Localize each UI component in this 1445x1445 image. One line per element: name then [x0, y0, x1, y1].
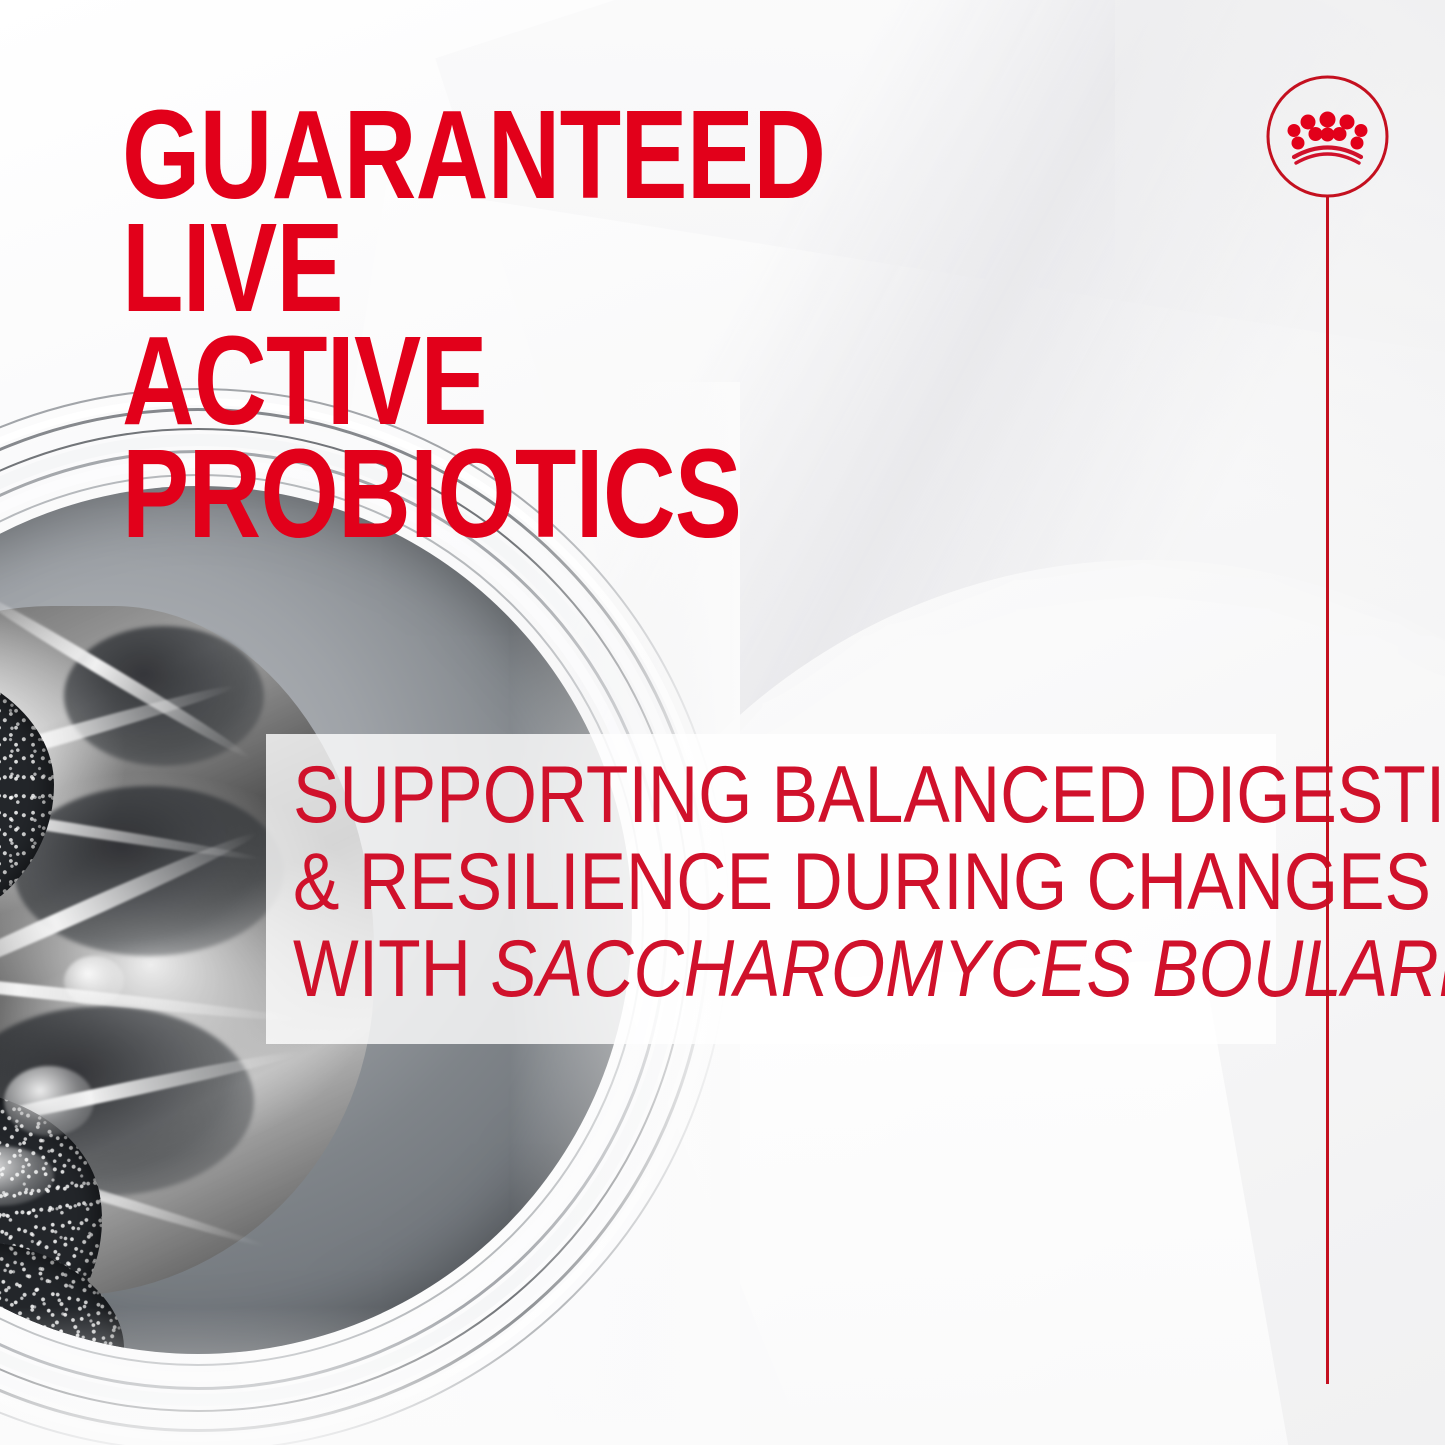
page-title: GUARANTEED LIVE ACTIVE PROBIOTICS	[122, 98, 1002, 550]
caption-line-1: SUPPORTING BALANCED DIGESTION	[293, 752, 1162, 839]
caption-block: SUPPORTING BALANCED DIGESTION & RESILIEN…	[293, 752, 1162, 1013]
royal-canin-logo[interactable]	[1266, 75, 1389, 198]
royal-canin-crown-icon	[1266, 75, 1389, 198]
species-name: SACCHAROMYCES BOULARDII	[490, 924, 1445, 1014]
photo-fade-bottom	[0, 1307, 740, 1445]
food-highlight	[4, 1066, 94, 1136]
logo-stem-line	[1326, 196, 1329, 1384]
food-highlight	[64, 956, 124, 1006]
caption-line-3-prefix: WITH	[293, 924, 490, 1014]
caption-line-3: WITH SACCHAROMYCES BOULARDII	[293, 926, 1162, 1013]
caption-line-2: & RESILIENCE DURING CHANGES	[293, 839, 1162, 926]
product-feature-banner: GUARANTEED LIVE ACTIVE PROBIOTICS SUPPOR…	[0, 0, 1445, 1445]
